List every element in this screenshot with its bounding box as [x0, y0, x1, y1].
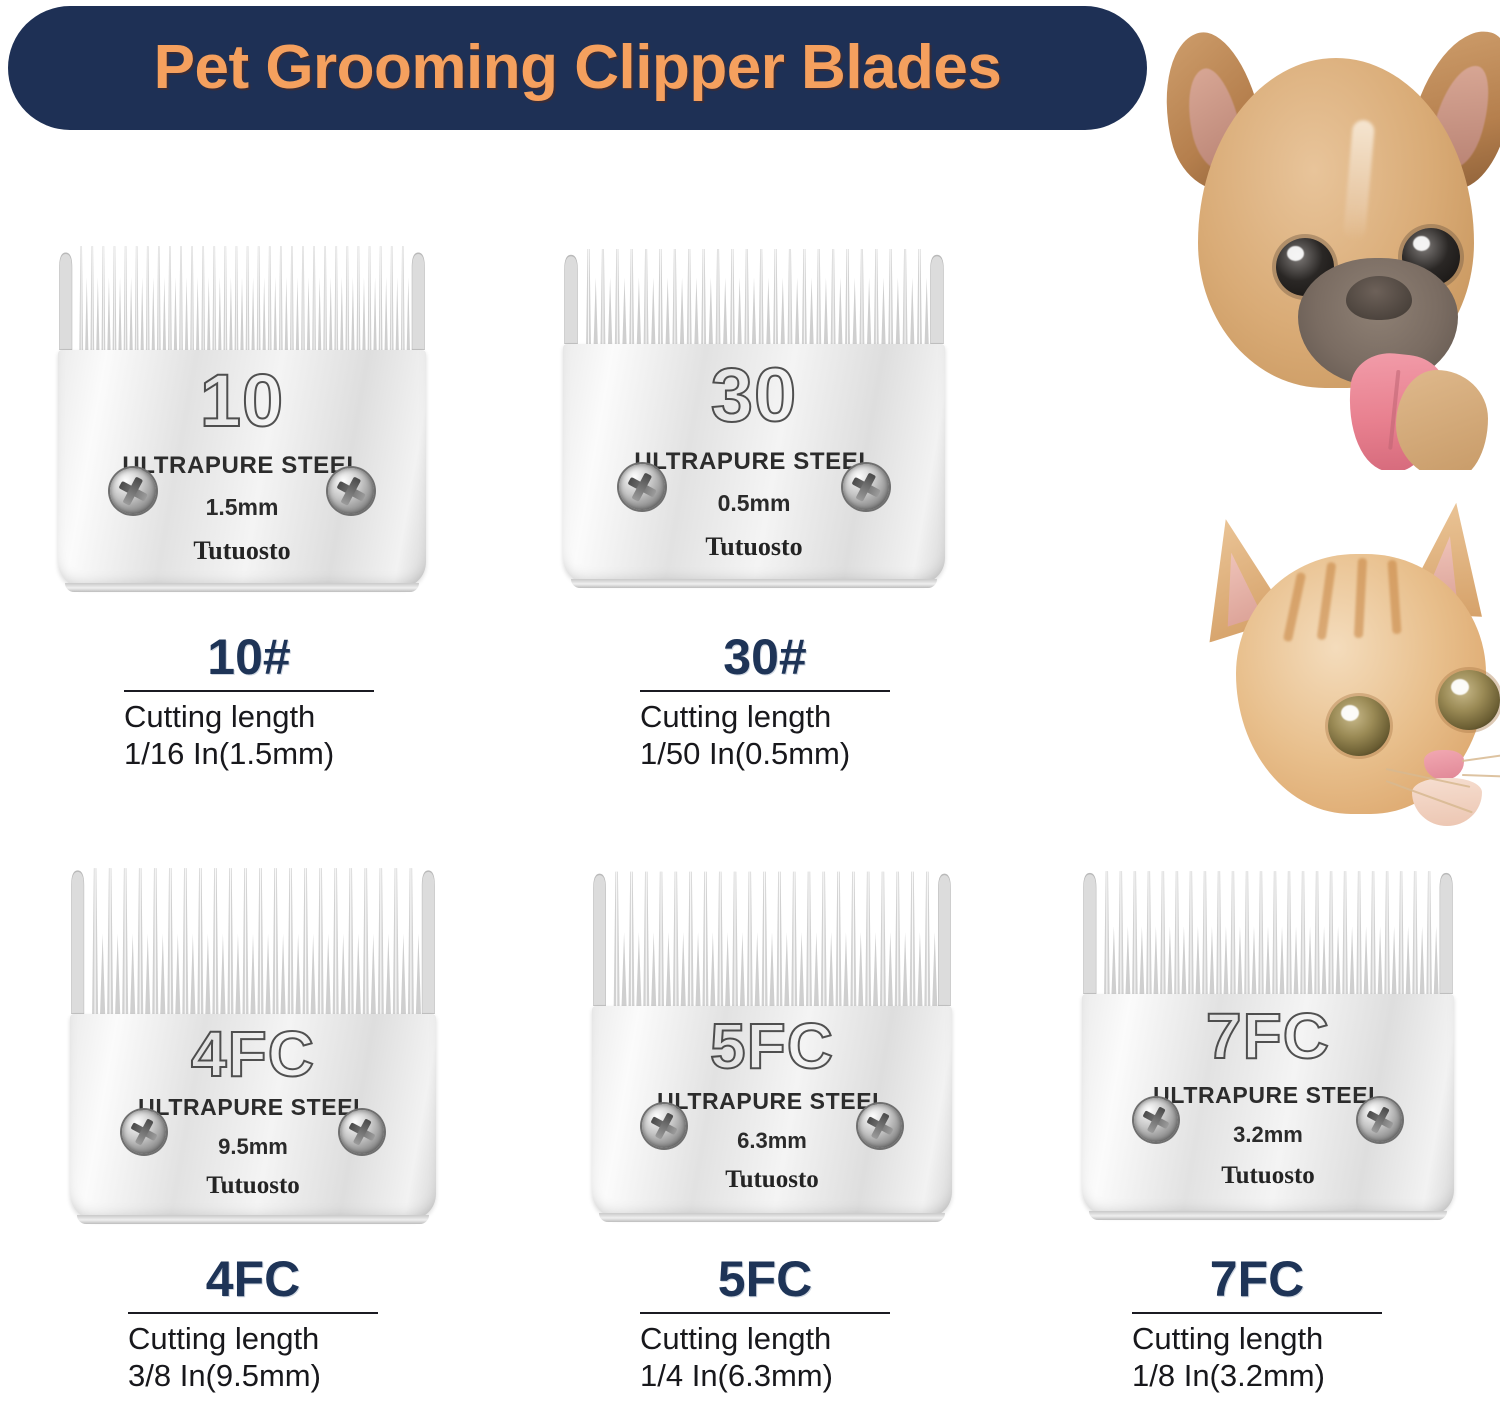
- blade-card-0: 10 ULTRAPURE STEEL 1.5mm Tutuosto: [58, 232, 426, 588]
- blade-material-text-1: ULTRAPURE STEEL: [563, 448, 945, 476]
- blade-cutting-value-4: 1/8 In(3.2mm): [1132, 1358, 1382, 1395]
- blade-engraved-size-4: 7FC: [1082, 1004, 1454, 1068]
- dog-nose: [1346, 276, 1412, 320]
- blade-engraved-size-2: 4FC: [70, 1022, 436, 1086]
- blade-cutting-value-1: 1/50 In(0.5mm): [640, 736, 890, 773]
- blade-cutting-value-2: 3/8 In(9.5mm): [128, 1358, 378, 1395]
- cat-left-eye: [1328, 696, 1390, 756]
- blade-label-2: 4FC Cutting length 3/8 In(9.5mm): [128, 1254, 378, 1394]
- blade-screw-left-4: [1134, 1098, 1178, 1142]
- dog-forehead-blaze: [1343, 119, 1375, 240]
- blade-brand-text-2: Tutuosto: [70, 1172, 436, 1200]
- blade-engraved-size-0: 10: [58, 364, 426, 438]
- dog-neck: [1396, 370, 1488, 470]
- blade-cutting-label-1: Cutting length: [640, 699, 890, 736]
- blade-screw-left-1: [619, 464, 665, 510]
- blade-label-title-0: 10#: [124, 632, 374, 682]
- blade-body-3: 5FC ULTRAPURE STEEL 6.3mm Tutuosto: [592, 1006, 952, 1218]
- blade-screw-right-3: [858, 1104, 902, 1148]
- page-header-banner: Pet Grooming Clipper Blades: [8, 6, 1147, 130]
- blade-card-2: 4FC ULTRAPURE STEEL 9.5mm Tutuosto: [70, 862, 436, 1220]
- blade-body-1: 30 ULTRAPURE STEEL 0.5mm Tutuosto: [563, 344, 945, 584]
- page-title: Pet Grooming Clipper Blades: [154, 37, 1002, 99]
- blade-card-1: 30 ULTRAPURE STEEL 0.5mm Tutuosto: [563, 236, 945, 584]
- cat-head: [1236, 554, 1486, 814]
- blade-brand-text-3: Tutuosto: [592, 1166, 952, 1194]
- blade-material-text-0: ULTRAPURE STEEL: [58, 452, 426, 480]
- blade-image-2: 4FC ULTRAPURE STEEL 9.5mm Tutuosto: [70, 862, 436, 1220]
- blade-cutting-label-2: Cutting length: [128, 1321, 378, 1358]
- blade-cutting-label-0: Cutting length: [124, 699, 374, 736]
- blade-screw-left-0: [110, 468, 156, 514]
- blade-label-3: 5FC Cutting length 1/4 In(6.3mm): [640, 1254, 890, 1394]
- blade-cutting-label-4: Cutting length: [1132, 1321, 1382, 1358]
- cat-nose: [1424, 750, 1464, 780]
- blade-screw-right-4: [1358, 1098, 1402, 1142]
- blade-cutting-value-3: 1/4 In(6.3mm): [640, 1358, 890, 1395]
- blade-label-divider-3: [640, 1312, 890, 1314]
- blade-label-title-4: 7FC: [1132, 1254, 1382, 1304]
- blade-brand-text-4: Tutuosto: [1082, 1162, 1454, 1190]
- blade-screw-right-0: [328, 468, 374, 514]
- blade-label-title-1: 30#: [640, 632, 890, 682]
- blade-body-0: 10 ULTRAPURE STEEL 1.5mm Tutuosto: [58, 350, 426, 588]
- blade-card-4: 7FC ULTRAPURE STEEL 3.2mm Tutuosto: [1082, 866, 1454, 1216]
- blade-screw-left-3: [642, 1104, 686, 1148]
- blade-teeth-4: [1082, 866, 1454, 994]
- cat-photo: [1172, 500, 1500, 880]
- pet-photo-group: [1150, 0, 1500, 880]
- blade-body-2: 4FC ULTRAPURE STEEL 9.5mm Tutuosto: [70, 1014, 436, 1220]
- blade-teeth-2: [70, 862, 436, 1014]
- blade-label-1: 30# Cutting length 1/50 In(0.5mm): [640, 632, 890, 772]
- blade-cutting-value-0: 1/16 In(1.5mm): [124, 736, 374, 773]
- blade-card-3: 5FC ULTRAPURE STEEL 6.3mm Tutuosto: [592, 866, 952, 1218]
- cat-right-eye: [1438, 670, 1500, 730]
- blade-screw-right-1: [843, 464, 889, 510]
- blade-cutting-label-3: Cutting length: [640, 1321, 890, 1358]
- blade-screw-right-2: [340, 1110, 384, 1154]
- blade-body-4: 7FC ULTRAPURE STEEL 3.2mm Tutuosto: [1082, 994, 1454, 1216]
- blade-material-text-3: ULTRAPURE STEEL: [592, 1088, 952, 1115]
- blade-image-4: 7FC ULTRAPURE STEEL 3.2mm Tutuosto: [1082, 866, 1454, 1216]
- blade-label-divider-2: [128, 1312, 378, 1314]
- blade-screw-left-2: [122, 1110, 166, 1154]
- blade-teeth-0: [58, 232, 426, 350]
- blade-image-0: 10 ULTRAPURE STEEL 1.5mm Tutuosto: [58, 232, 426, 588]
- blade-image-1: 30 ULTRAPURE STEEL 0.5mm Tutuosto: [563, 236, 945, 584]
- blade-label-divider-1: [640, 690, 890, 692]
- blade-label-divider-0: [124, 690, 374, 692]
- dog-photo: [1160, 0, 1500, 470]
- blade-material-text-4: ULTRAPURE STEEL: [1082, 1082, 1454, 1109]
- blade-label-divider-4: [1132, 1312, 1382, 1314]
- blade-brand-text-0: Tutuosto: [58, 536, 426, 566]
- blade-engraved-size-1: 30: [563, 358, 945, 434]
- blade-label-0: 10# Cutting length 1/16 In(1.5mm): [124, 632, 374, 772]
- blade-brand-text-1: Tutuosto: [563, 532, 945, 562]
- blade-label-title-3: 5FC: [640, 1254, 890, 1304]
- blade-teeth-1: [563, 236, 945, 344]
- blade-label-title-2: 4FC: [128, 1254, 378, 1304]
- blade-teeth-3: [592, 866, 952, 1006]
- blade-material-text-2: ULTRAPURE STEEL: [70, 1094, 436, 1121]
- blade-image-3: 5FC ULTRAPURE STEEL 6.3mm Tutuosto: [592, 866, 952, 1218]
- blade-label-4: 7FC Cutting length 1/8 In(3.2mm): [1132, 1254, 1382, 1394]
- blade-engraved-size-3: 5FC: [592, 1014, 952, 1078]
